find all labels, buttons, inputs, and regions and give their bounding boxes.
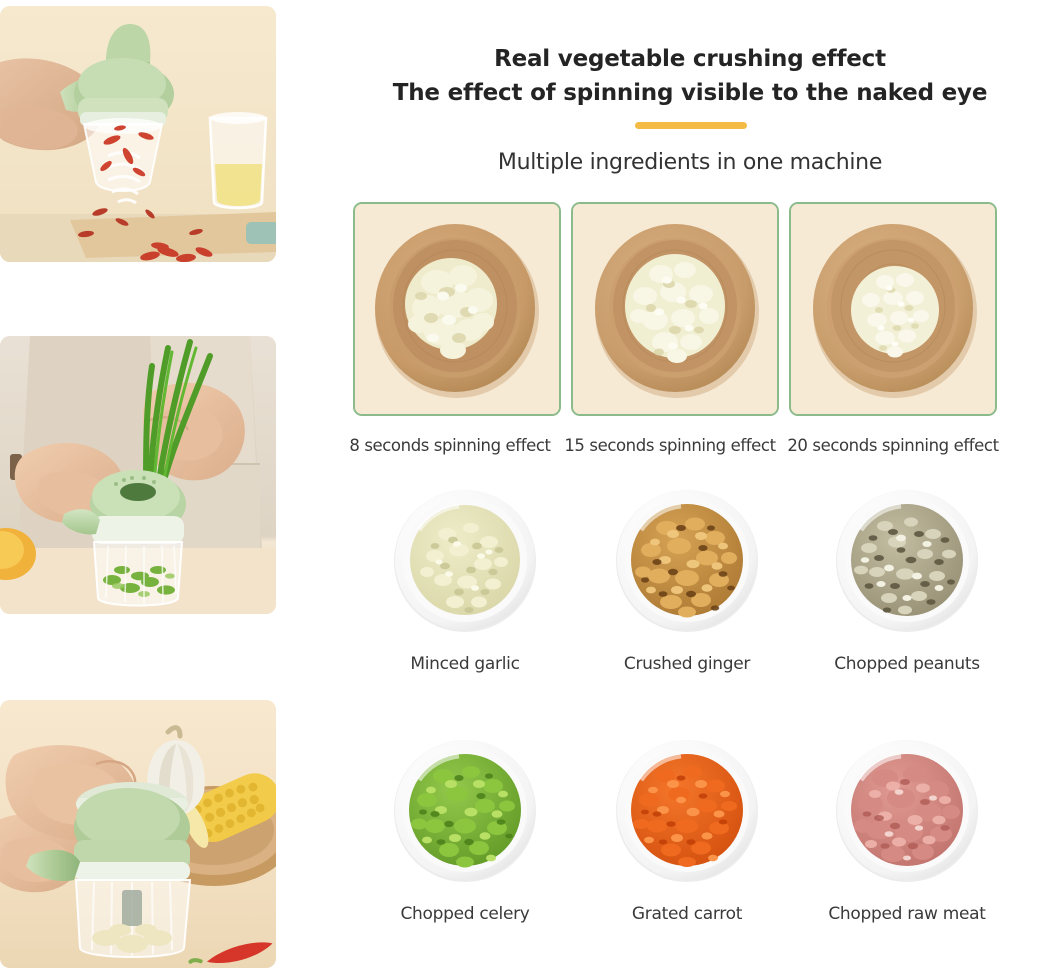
chopped-celery-bowl-image (389, 734, 541, 886)
product-photo-column (0, 0, 282, 969)
bowl-label-minced-garlic: Minced garlic (349, 654, 581, 674)
spin-label-8s: 8 seconds spinning effect (338, 436, 562, 455)
bowl-cell-chopped-raw-meat: Chopped raw meat (791, 730, 1023, 924)
bowl-label-crushed-ginger: Crushed ginger (571, 654, 803, 674)
garlic-chopping-photo (0, 700, 276, 968)
yellow-divider (635, 122, 747, 129)
headline-line-2: The effect of spinning visible to the na… (340, 76, 1040, 110)
bowl-cell-crushed-ginger: Crushed ginger (571, 480, 803, 674)
crushed-ginger-bowl-image (611, 484, 763, 636)
headline-block: Real vegetable crushing effect The effec… (340, 42, 1040, 110)
spin-label-15s: 15 seconds spinning effect (558, 436, 782, 455)
bowl-cell-grated-carrot: Grated carrot (571, 730, 803, 924)
spin-panel-15s (571, 202, 779, 416)
chopped-raw-meat-bowl-image (831, 734, 983, 886)
spin-panel-20s (789, 202, 997, 416)
bowl-label-grated-carrot: Grated carrot (571, 904, 803, 924)
scallion-chopping-photo (0, 336, 276, 614)
ingredient-bowl-grid: Minced garlic (340, 480, 1040, 980)
spinning-effect-panels (353, 202, 1043, 416)
bowl-cell-minced-garlic: Minced garlic (349, 480, 581, 674)
bowl-cell-chopped-celery: Chopped celery (349, 730, 581, 924)
headline-line-1: Real vegetable crushing effect (340, 42, 1040, 76)
bowl-label-chopped-raw-meat: Chopped raw meat (791, 904, 1023, 924)
infographic-page: Real vegetable crushing effect The effec… (0, 0, 1058, 969)
minced-garlic-bowl-image (389, 484, 541, 636)
content-column: Real vegetable crushing effect The effec… (340, 0, 1058, 969)
grated-carrot-bowl-image (611, 734, 763, 886)
bowl-cell-chopped-peanuts: Chopped peanuts (791, 480, 1023, 674)
bowl-label-chopped-peanuts: Chopped peanuts (791, 654, 1023, 674)
bowl-label-chopped-celery: Chopped celery (349, 904, 581, 924)
chili-crushing-photo (0, 6, 276, 262)
spinning-effect-labels: 8 seconds spinning effect 15 seconds spi… (340, 436, 1040, 462)
spin-panel-8s (353, 202, 561, 416)
subtitle: Multiple ingredients in one machine (340, 150, 1040, 175)
bowl-row-1: Minced garlic (340, 480, 1040, 730)
bowl-row-2: Chopped celery (340, 730, 1040, 980)
spin-label-20s: 20 seconds spinning effect (781, 436, 1005, 455)
chopped-peanuts-bowl-image (831, 484, 983, 636)
